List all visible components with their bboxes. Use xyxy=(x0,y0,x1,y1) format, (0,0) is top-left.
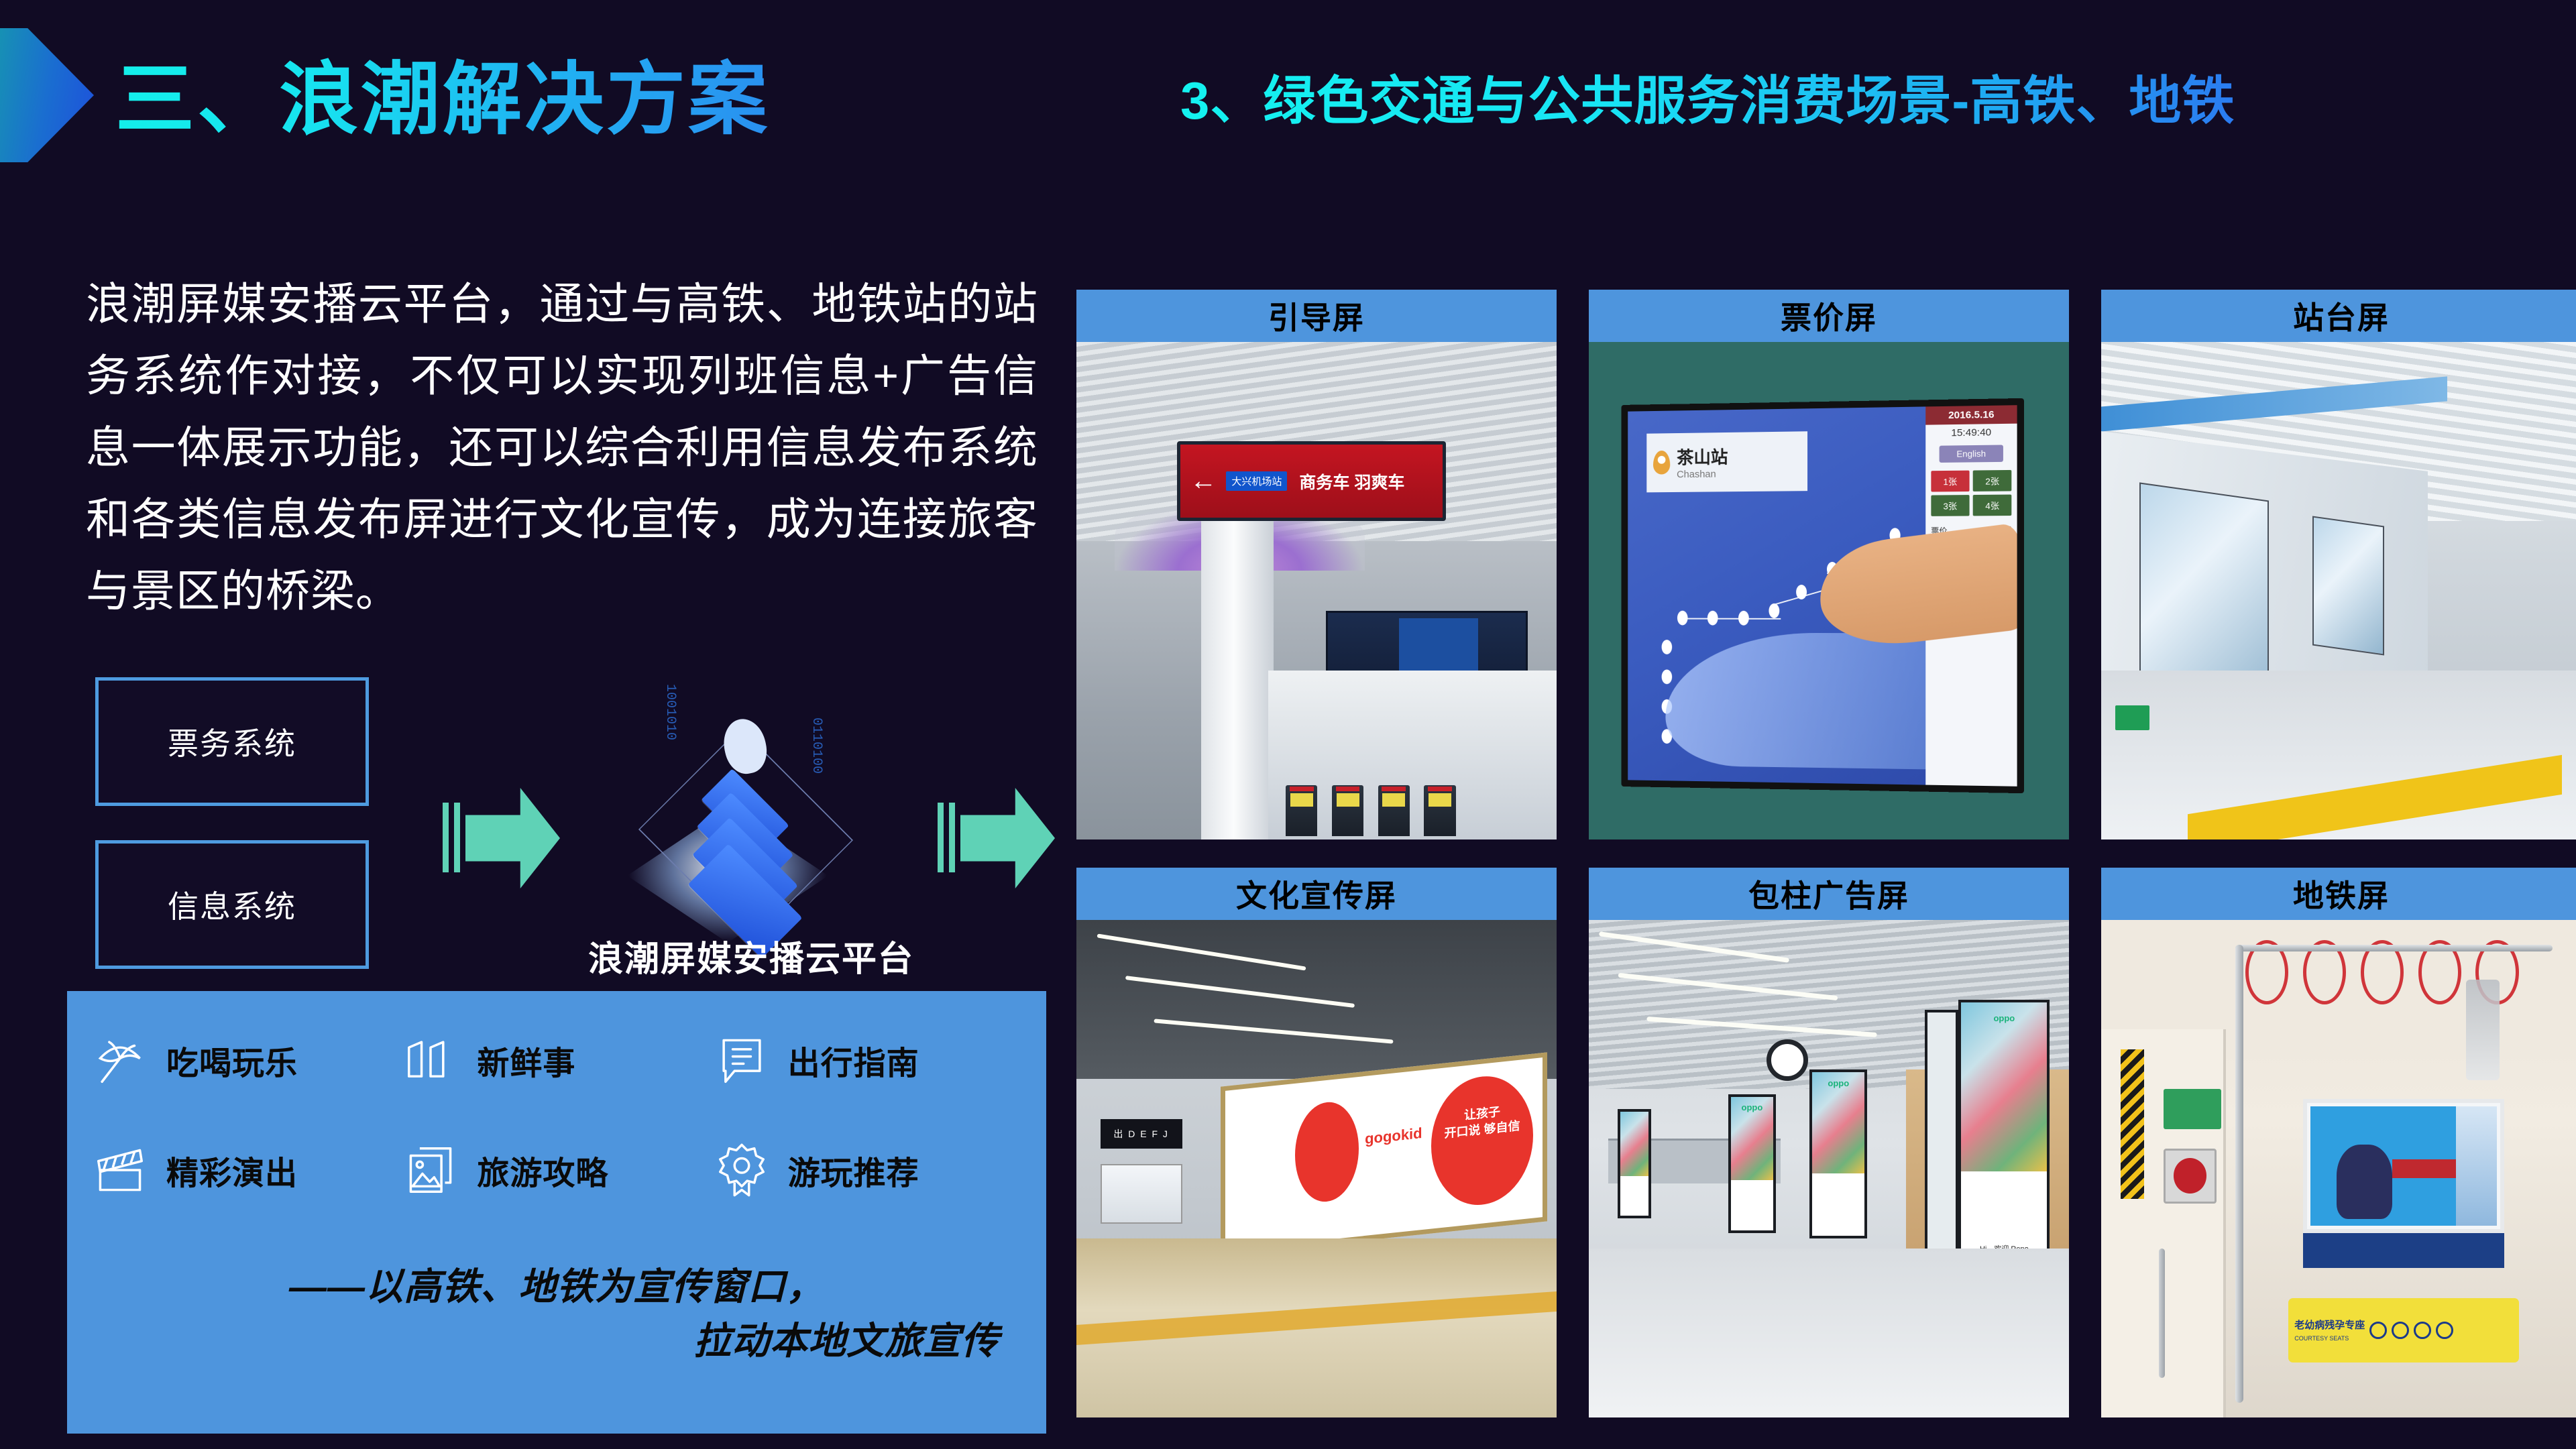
station-name-en: Chashan xyxy=(1677,468,1716,479)
award-badge-icon xyxy=(713,1141,771,1199)
card-caption: 引导屏 xyxy=(1076,290,1557,342)
emergency-exit-icon xyxy=(2115,705,2149,730)
binary-stream-right: 0110100 xyxy=(808,717,825,774)
seat-sign-title-cn: 老幼病残孕专座 xyxy=(2294,1320,2365,1331)
binary-stream-left: 1001010 xyxy=(662,684,679,740)
screen-showcase-grid: 引导屏 ← 大兴机场站 商务车 羽爽车 票价屏 xyxy=(1076,290,2576,1417)
feature-item-food-fun[interactable]: 吃喝玩乐 xyxy=(91,1031,402,1089)
feature-label: 精彩演出 xyxy=(166,1147,298,1194)
date-display: 2016.5.16 xyxy=(1925,405,2017,424)
quantity-button-2[interactable]: 2张 xyxy=(1973,470,2012,491)
system-box-label: 票务系统 xyxy=(168,719,296,764)
cloud-icon xyxy=(719,715,771,777)
station-clock xyxy=(1767,1039,1808,1081)
billboard-brand: gogokid xyxy=(1365,1124,1422,1148)
quantity-button-4[interactable]: 4张 xyxy=(1973,495,2012,516)
showcase-card-metro-screen[interactable]: 地铁屏 老幼病残孕专座 COURTESY SEATS xyxy=(2101,868,2576,1417)
emergency-button[interactable] xyxy=(2164,1149,2217,1204)
showcase-card-guidance-screen[interactable]: 引导屏 ← 大兴机场站 商务车 羽爽车 xyxy=(1076,290,1557,839)
card-photo-corridor: 出 D E F J gogokid 让孩子 开口说 够自信 xyxy=(1076,920,1557,1417)
feature-label: 旅游攻略 xyxy=(477,1147,608,1194)
pillar-brand: oppo xyxy=(1961,1013,2047,1023)
feature-item-performances[interactable]: 精彩演出 xyxy=(91,1141,402,1199)
showcase-card-pillar-ad-screen[interactable]: 包柱广告屏 oppo oppo oppo Hi，欢迎 Reno xyxy=(1589,868,2069,1417)
card-photo-metro-interior: 老幼病残孕专座 COURTESY SEATS xyxy=(2101,920,2576,1417)
platform-name-label: 浪潮屏媒安播云平台 xyxy=(537,931,966,981)
card-caption: 票价屏 xyxy=(1589,290,2069,342)
section-subtitle: 3、绿色交通与公共服务消费场景-高铁、地铁 xyxy=(1180,59,2235,134)
advertising-lightbox: gogokid 让孩子 开口说 够自信 xyxy=(1221,1052,1547,1255)
billboard-headline: 让孩子 xyxy=(1464,1104,1500,1122)
slogan-line-1: ——以高铁、地铁为宣传窗口， xyxy=(107,1259,1006,1314)
showcase-card-platform-screen[interactable]: 站台屏 xyxy=(2101,290,2576,839)
card-photo-concourse: ← 大兴机场站 商务车 羽爽车 xyxy=(1076,342,1557,839)
hand-strap xyxy=(2466,980,2500,1080)
station-name-cn: 茶山站 xyxy=(1677,447,1728,468)
showcase-card-fare-screen[interactable]: 票价屏 茶山站 Chashan xyxy=(1589,290,2069,839)
card-caption: 包柱广告屏 xyxy=(1589,868,2069,920)
clapperboard-icon xyxy=(91,1141,149,1199)
flow-arrow-right-icon xyxy=(938,788,1055,888)
slogan-line-2: 拉动本地文旅宣传 xyxy=(107,1314,1006,1368)
feature-label: 出行指南 xyxy=(788,1037,919,1084)
card-photo-fare-kiosk: 茶山站 Chashan xyxy=(1589,342,2069,839)
led-wayfinding-sign: ← 大兴机场站 商务车 羽爽车 xyxy=(1177,441,1446,521)
beach-umbrella-icon xyxy=(91,1031,149,1089)
card-photo-platform xyxy=(2101,342,2576,839)
feature-label: 吃喝玩乐 xyxy=(166,1037,298,1084)
quantity-button-1[interactable]: 1张 xyxy=(1931,471,1970,492)
card-caption: 文化宣传屏 xyxy=(1076,868,1557,920)
feature-item-travel-guide[interactable]: 出行指南 xyxy=(713,1031,1023,1089)
in-car-info-screen xyxy=(2303,1099,2505,1233)
led-sign-text: 商务车 羽爽车 xyxy=(1299,469,1404,494)
feature-item-tour-tips[interactable]: 旅游攻略 xyxy=(402,1141,712,1199)
card-photo-pillar-hall: oppo oppo oppo Hi，欢迎 Reno xyxy=(1589,920,2069,1417)
slogan: ——以高铁、地铁为宣传窗口， 拉动本地文旅宣传 xyxy=(107,1259,1006,1368)
feature-panel: 吃喝玩乐 新鲜事 出行指南 xyxy=(67,991,1046,1434)
body-paragraph: 浪潮屏媒安播云平台，通过与高铁、地铁站的站务系统作对接，不仅可以实现列班信息+广… xyxy=(86,268,1038,627)
left-arrow-icon: ← xyxy=(1190,466,1217,496)
system-box-ticketing[interactable]: 票务系统 xyxy=(95,677,369,806)
feature-item-news[interactable]: 新鲜事 xyxy=(402,1031,712,1089)
safety-notice-label xyxy=(2164,1089,2221,1128)
courtesy-seat-sign: 老幼病残孕专座 COURTESY SEATS xyxy=(2288,1298,2519,1363)
flow-arrow-right-icon xyxy=(443,788,560,888)
speech-bubble-icon xyxy=(713,1031,771,1089)
language-toggle-button[interactable]: English xyxy=(1939,445,2003,462)
feature-grid: 吃喝玩乐 新鲜事 出行指南 xyxy=(91,1031,1023,1199)
card-caption: 地铁屏 xyxy=(2101,868,2576,920)
feature-item-recommendations[interactable]: 游玩推荐 xyxy=(713,1141,1023,1199)
feature-label: 游玩推荐 xyxy=(788,1147,919,1194)
station-name-box: 茶山站 Chashan xyxy=(1646,431,1807,492)
card-caption: 站台屏 xyxy=(2101,290,2576,342)
showcase-card-culture-screen[interactable]: 文化宣传屏 出 D E F J gogokid 让孩子 开口说 够自信 xyxy=(1076,868,1557,1417)
cloud-platform-illustration: 1001010 0110100 xyxy=(607,677,889,945)
exit-direction-sign: 出 D E F J xyxy=(1101,1119,1182,1149)
location-pin-icon xyxy=(1653,451,1670,475)
system-box-label: 信息系统 xyxy=(168,882,296,927)
seat-sign-title-en: COURTESY SEATS xyxy=(2294,1335,2349,1342)
feature-label: 新鲜事 xyxy=(477,1037,575,1084)
led-sign-badge: 大兴机场站 xyxy=(1226,471,1287,491)
photo-gallery-icon xyxy=(402,1141,459,1199)
oppo-pillar-lightbox: oppo Hi，欢迎 Reno xyxy=(1958,1000,2050,1279)
left-accent-chevron xyxy=(0,28,94,162)
time-display: 15:49:40 xyxy=(1925,424,2017,442)
server-stack-icon xyxy=(691,724,799,919)
quantity-button-3[interactable]: 3张 xyxy=(1931,495,1970,516)
quote-marks-icon xyxy=(402,1031,459,1089)
system-box-information[interactable]: 信息系统 xyxy=(95,840,369,969)
page-title: 三、浪潮解决方案 xyxy=(115,35,770,150)
